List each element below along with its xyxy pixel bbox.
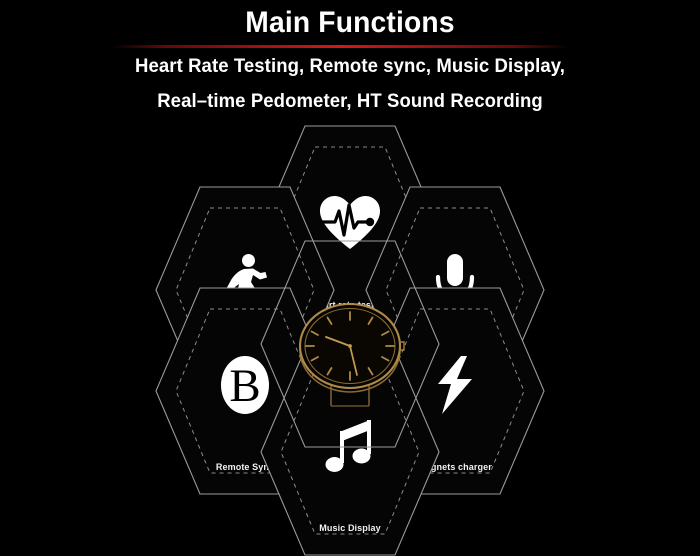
svg-text:B: B — [229, 360, 260, 412]
smartwatch-icon — [260, 292, 440, 412]
hex-label-music-display: Music Display — [265, 523, 436, 534]
hex-cell-center-watch — [260, 240, 440, 448]
feature-honeycomb: Heart rate testing Health monitor — [0, 0, 700, 507]
